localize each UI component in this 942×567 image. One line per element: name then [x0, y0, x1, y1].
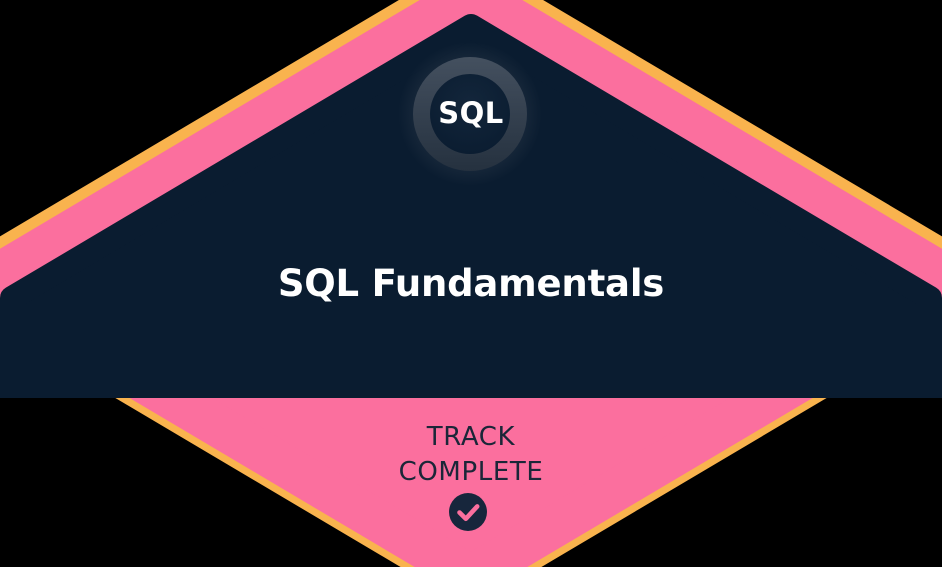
sql-ring-icon [398, 42, 542, 186]
badge-stage: SQL SQL Fundamentals TRACK COMPLETE [0, 0, 942, 567]
check-circle-icon [449, 493, 487, 531]
track-badge-graphic[interactable] [0, 0, 942, 567]
